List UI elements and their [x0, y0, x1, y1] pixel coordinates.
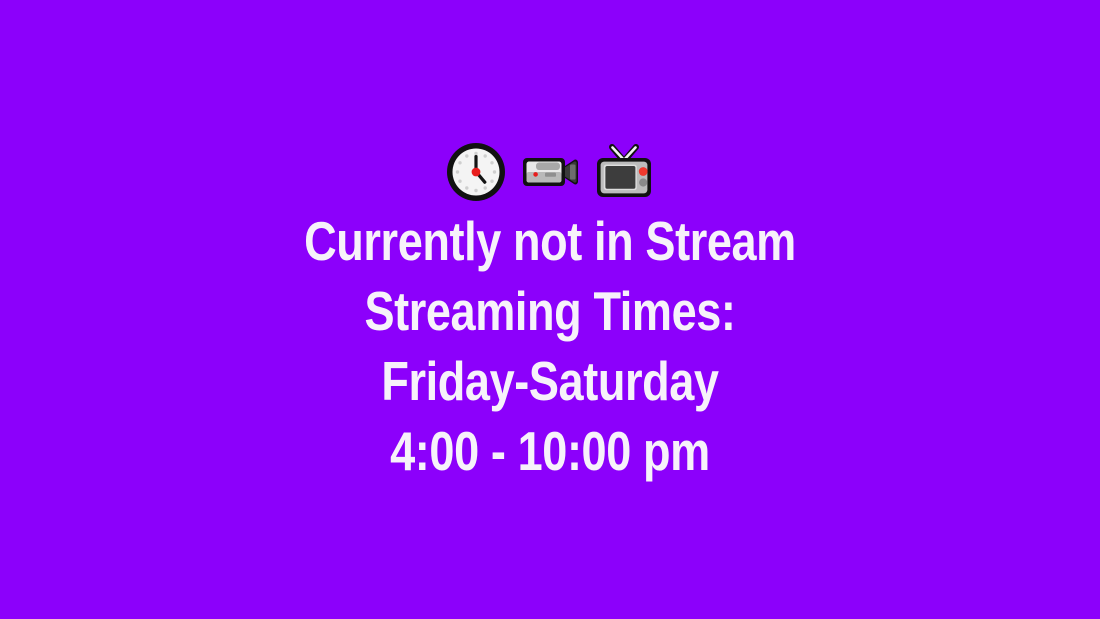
- status-line: Currently not in Stream: [99, 206, 1001, 276]
- offline-stream-card: Currently not in Stream Streaming Times:…: [0, 0, 1100, 619]
- clock-icon: [444, 140, 508, 204]
- television-icon: [592, 140, 656, 204]
- video-camera-icon: [518, 140, 582, 204]
- icon-row: [0, 140, 1100, 204]
- schedule-heading: Streaming Times:: [99, 276, 1001, 346]
- schedule-hours: 4:00 - 10:00 pm: [99, 416, 1001, 486]
- message-block: Currently not in Stream Streaming Times:…: [0, 206, 1100, 486]
- schedule-days: Friday-Saturday: [99, 346, 1001, 416]
